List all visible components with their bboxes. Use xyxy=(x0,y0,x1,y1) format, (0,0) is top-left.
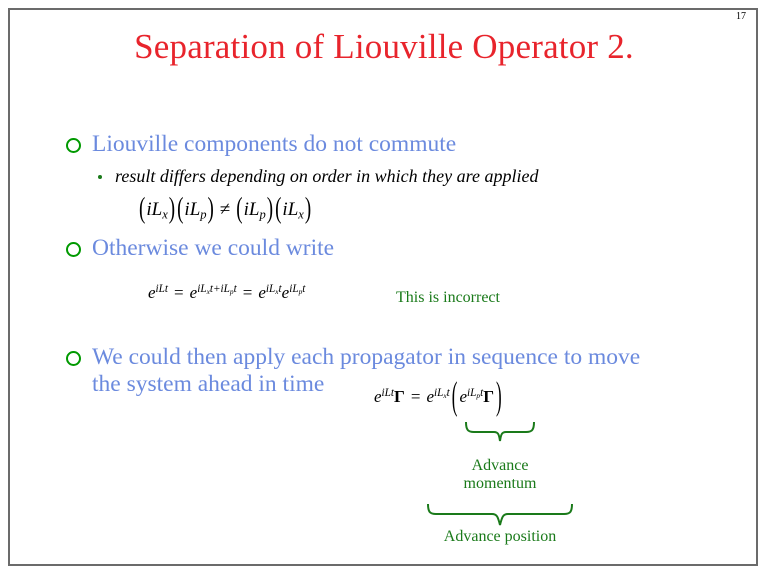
sub-bullet-item-1: result differs depending on order in whi… xyxy=(98,166,718,187)
eq1-p3: p xyxy=(259,208,265,222)
bullet-item-1-label: Liouville components do not commute xyxy=(92,131,456,158)
eq2-t5: t xyxy=(302,283,305,295)
sub-bullet-item-1-label: result differs depending on order in whi… xyxy=(115,166,538,187)
equation-paren-close-3: ) xyxy=(267,193,273,227)
eq3-e3: e xyxy=(459,387,467,406)
equation-paren-open-1: ( xyxy=(139,193,145,227)
slide-border-frame xyxy=(8,8,758,566)
equation-paren-close-2: ) xyxy=(208,193,214,227)
eq2-exp4: iLpt xyxy=(289,283,305,295)
eq2-e1: e xyxy=(148,283,156,302)
eq3-gamma-2: Γ xyxy=(483,387,494,406)
equation-paren-open-3: ( xyxy=(236,193,242,227)
equation-paren-open-4: ( xyxy=(275,193,281,227)
brace-momentum-icon xyxy=(462,421,538,445)
eq3-e1: e xyxy=(374,387,382,406)
bullet-item-2-label: Otherwise we could write xyxy=(92,235,334,262)
brace-position-icon xyxy=(424,503,576,529)
eq1-x4: x xyxy=(298,208,304,222)
equation-paren-close-5: ) xyxy=(496,374,502,420)
equation-paren-close-4: ) xyxy=(305,193,311,227)
eq2-t1: t xyxy=(165,283,168,295)
eq3-e2: e xyxy=(426,387,434,406)
eq1-p2: p xyxy=(200,208,206,222)
incorrect-note: This is incorrect xyxy=(396,289,500,307)
eq2-e3: e xyxy=(258,283,266,302)
advance-position-annotation: Advance position xyxy=(410,528,590,546)
equation-paren-close-1: ) xyxy=(169,193,175,227)
eq1-relation: ≠ xyxy=(220,199,230,220)
gamma-propagation-equation: eiLtΓ=eiLxt(eiLptΓ) xyxy=(374,387,504,407)
ring-marker-icon xyxy=(66,242,81,257)
eq2-plus: + xyxy=(213,283,221,295)
eq1-L4: L xyxy=(288,199,299,220)
advance-momentum-line-2: momentum xyxy=(440,475,560,493)
eq1-L2: L xyxy=(190,199,201,220)
eq3-exp2: iLxt xyxy=(434,387,450,399)
non-commuting-operators-equation: (iLx)(iLp)≠(iLp)(iLx) xyxy=(138,199,312,223)
advance-momentum-line-1: Advance xyxy=(440,457,560,475)
slide-canvas: 17 Separation of Liouville Operator 2. L… xyxy=(0,0,768,576)
page-number: 17 xyxy=(736,11,746,22)
eq2-exp1: iLt xyxy=(156,283,169,295)
eq1-L1: L xyxy=(152,199,163,220)
equation-paren-open-5: ( xyxy=(452,374,458,420)
bullet-item-2: Otherwise we could write xyxy=(66,235,706,262)
bullet-item-3-line-1: We could then apply each propagator in s… xyxy=(92,344,712,371)
eq2-exp2: iLxt+iLpt xyxy=(197,283,237,295)
ring-marker-icon xyxy=(66,351,81,366)
eq3-exp1: iLt xyxy=(382,387,395,399)
eq3-gamma-1: Γ xyxy=(394,387,405,406)
ring-marker-icon xyxy=(66,138,81,153)
page-title: Separation of Liouville Operator 2. xyxy=(0,27,768,67)
eq3-t2: t xyxy=(447,387,450,399)
equation-paren-open-2: ( xyxy=(177,193,183,227)
eq3-exp3: iLpt xyxy=(467,387,483,399)
eq1-x1: x xyxy=(162,208,168,222)
eq2-equals-2: = xyxy=(243,283,253,302)
eq2-exp3: iLxt xyxy=(266,283,282,295)
eq1-L3: L xyxy=(249,199,260,220)
bullet-item-1: Liouville components do not commute xyxy=(66,131,706,158)
eq2-t3: t xyxy=(234,283,237,295)
dot-marker-icon xyxy=(98,175,102,179)
advance-momentum-annotation: Advance momentum xyxy=(440,457,560,493)
eq2-equals-1: = xyxy=(174,283,184,302)
propagator-factorization-equation: eiLt=eiLxt+iLpt=eiLxteiLpt xyxy=(148,283,305,303)
eq3-equals: = xyxy=(411,387,421,406)
